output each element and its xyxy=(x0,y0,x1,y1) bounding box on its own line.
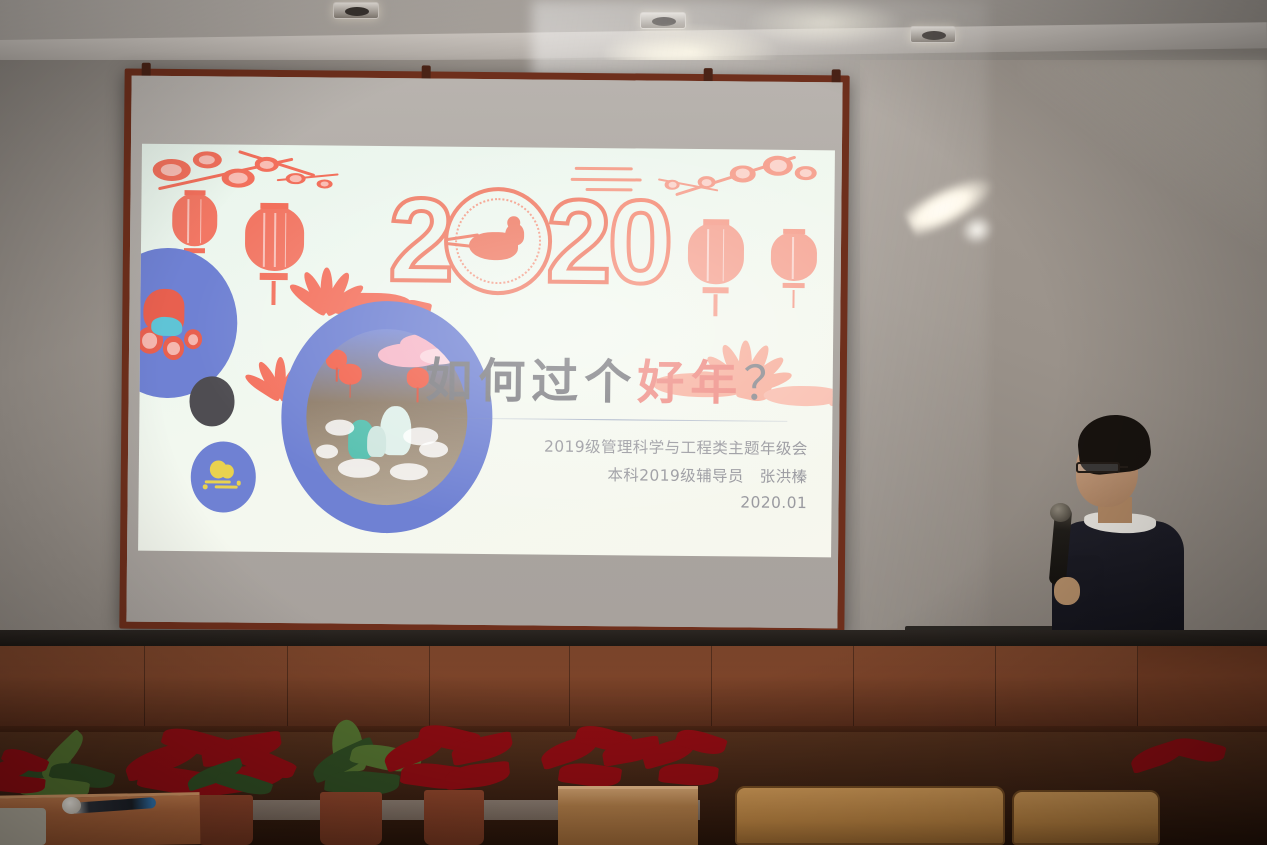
plum-blossom xyxy=(193,151,222,168)
chair-back xyxy=(1012,790,1160,845)
swirl-dot xyxy=(203,484,208,489)
petal xyxy=(1168,734,1226,767)
glasses-temple xyxy=(1118,466,1128,468)
petal xyxy=(658,761,719,788)
flower-pot xyxy=(197,795,253,845)
decorative-dot-gray xyxy=(189,376,235,426)
slide-subtitle-date: 2020.01 xyxy=(740,493,807,512)
microphone-head xyxy=(1050,503,1071,522)
petal xyxy=(0,773,46,796)
year-digit: 0 xyxy=(607,183,670,302)
title-gray-part: 如何过个 xyxy=(425,354,638,411)
lecture-hall-scene: 2 2 0 xyxy=(0,0,1267,845)
microphone-head xyxy=(62,797,81,814)
stage-panel xyxy=(854,646,996,732)
lantern-icon xyxy=(771,231,817,301)
screen-clip xyxy=(422,65,431,78)
lantern-tassel xyxy=(272,281,276,304)
stage-panel xyxy=(145,646,288,732)
lantern-pole xyxy=(349,383,351,398)
snow-patch xyxy=(338,459,380,479)
chair-back xyxy=(735,786,1005,845)
decorative-circle-gold xyxy=(190,441,257,513)
lantern-pole xyxy=(336,368,338,382)
plum-blossom xyxy=(153,159,191,181)
desk xyxy=(558,786,698,845)
lantern-body xyxy=(339,363,362,384)
flower-pot xyxy=(424,790,484,845)
rat-zodiac-medallion xyxy=(444,186,553,295)
presentation-slide: 2 2 0 xyxy=(138,144,835,557)
wall-light-streak xyxy=(1020,60,1267,260)
snow-patch xyxy=(389,463,428,481)
slide-subtitle-line: 本科2019级辅导员 张洪榛 xyxy=(607,464,807,488)
scene-lantern xyxy=(339,363,362,395)
plum-blossom xyxy=(255,157,280,172)
year-digit: 2 xyxy=(388,181,451,300)
stage-front xyxy=(0,646,1267,732)
lantern-base xyxy=(783,283,805,288)
flower-pot xyxy=(320,792,382,845)
plum-blossom xyxy=(762,156,793,177)
plum-blossom xyxy=(286,173,306,185)
slide-subtitle-line: 2019级管理科学与工程类主题年级会 xyxy=(544,435,808,460)
stage-panel xyxy=(430,646,570,732)
screen-clip xyxy=(832,69,841,82)
lantern-body xyxy=(771,231,817,281)
lantern-tassel xyxy=(792,290,795,308)
title-divider xyxy=(441,417,788,421)
plum-blossom xyxy=(162,336,184,360)
plum-blossom xyxy=(184,329,202,349)
glasses-icon xyxy=(1076,462,1120,473)
swirl-dot xyxy=(237,481,241,485)
year-2020-graphic: 2 2 0 xyxy=(317,166,741,316)
plum-blossom xyxy=(221,168,254,187)
lantern-body xyxy=(172,193,218,246)
snow-patch xyxy=(419,442,448,458)
title-question-mark: ？ xyxy=(743,357,797,413)
plum-blossom xyxy=(795,166,817,181)
stage-panel xyxy=(712,646,854,732)
swirl-line xyxy=(215,485,238,488)
screen-clip xyxy=(142,63,151,76)
snow-patch xyxy=(316,444,339,458)
presenter-hand xyxy=(1054,577,1080,605)
ceiling-spotlight xyxy=(333,2,379,19)
swirl-line xyxy=(205,480,231,484)
title-red-part: 好年 xyxy=(637,356,744,412)
rat-icon xyxy=(465,221,531,266)
screen-surface: 2 2 0 xyxy=(126,76,842,629)
stage-panel xyxy=(570,646,712,732)
decorative-circle-small xyxy=(138,247,238,399)
paper-cut-art xyxy=(138,284,229,375)
scene-figure xyxy=(367,425,387,457)
gold-swirl-motif xyxy=(202,459,244,496)
paper-cut-accent xyxy=(151,316,183,336)
swirl-blob xyxy=(221,465,235,479)
stage-panel xyxy=(0,646,145,732)
rat-head xyxy=(505,223,525,246)
chair-edge xyxy=(0,808,46,845)
slide-title: 如何过个好年？ xyxy=(403,342,820,415)
screen-clip xyxy=(704,68,713,81)
year-digit: 2 xyxy=(546,182,609,301)
projector-screen: 2 2 0 xyxy=(119,69,849,636)
stage-panel xyxy=(996,646,1138,732)
